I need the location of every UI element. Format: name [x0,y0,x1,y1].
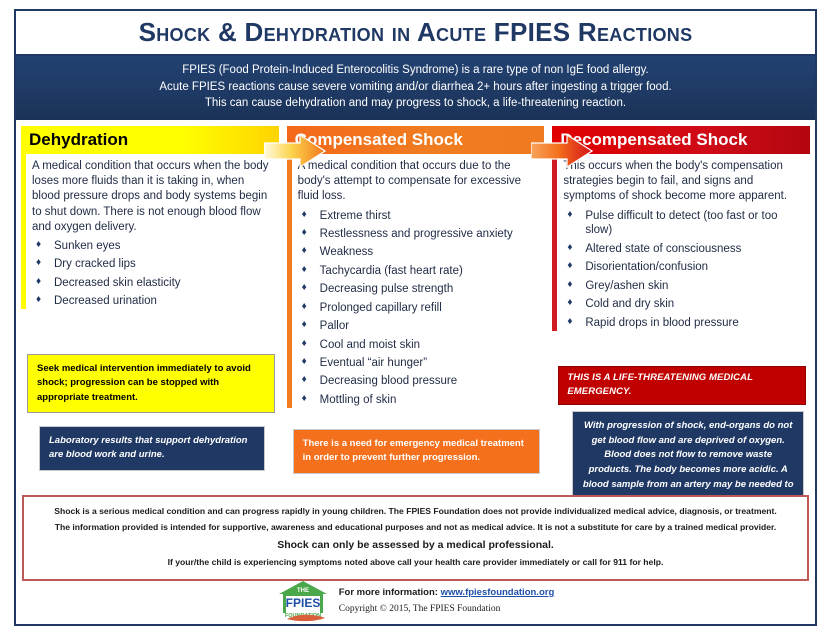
disclaimer-line-2: The information provided is intended for… [34,520,797,536]
symptom-list-dehydration: Sunken eyes Dry cracked lips Decreased s… [32,239,275,309]
columns-container: Dehydration A medical condition that occ… [16,120,815,487]
column-description: A medical condition that occurs when the… [32,159,275,235]
callout-seek-medical-intervention: Seek medical intervention immediately to… [27,354,275,413]
more-info-line: For more information: www.fpiesfoundatio… [339,585,555,601]
intro-banner: FPIES (Food Protein-Induced Enterocoliti… [16,56,815,120]
list-item: Weakness [298,245,541,260]
list-item: Decreased urination [32,294,275,309]
list-item: Decreasing pulse strength [298,282,541,297]
list-item: Dry cracked lips [32,257,275,272]
list-item: Prolonged capillary refill [298,301,541,316]
arrow-dehydration-to-compensated-icon [264,134,326,168]
column-dehydration: Dehydration A medical condition that occ… [21,126,279,487]
disclaimer-line-4: If your/the child is experiencing sympto… [34,555,797,571]
list-item: Rapid drops in blood pressure [563,316,806,331]
disclaimer-line-3: Shock can only be assessed by a medical … [34,536,797,555]
list-item: Decreasing blood pressure [298,374,541,389]
list-item: Extreme thirst [298,209,541,224]
infographic-poster: Shock & Dehydration in Acute FPIES React… [14,9,817,626]
disclaimer-line-1: Shock is a serious medical condition and… [34,504,797,520]
list-item: Restlessness and progressive anxiety [298,227,541,242]
more-info-label: For more information: [339,587,438,598]
arrow-compensated-to-decompensated-icon [531,134,593,168]
callout-emergency-treatment: There is a need for emergency medical tr… [293,429,541,474]
column-body-dehydration: A medical condition that occurs when the… [21,154,279,309]
callout-laboratory-results: Laboratory results that support dehydrat… [39,426,265,471]
list-item: Tachycardia (fast heart rate) [298,264,541,279]
intro-line-2: Acute FPIES reactions cause severe vomit… [26,79,805,96]
list-item: Cold and dry skin [563,297,806,312]
page-title: Shock & Dehydration in Acute FPIES React… [139,17,693,48]
copyright-line: Copyright © 2015, The FPIES Foundation [339,601,555,617]
symptom-list-compensated-shock: Extreme thirst Restlessness and progress… [298,209,541,408]
list-item: Sunken eyes [32,239,275,254]
title-bar: Shock & Dehydration in Acute FPIES React… [16,11,815,56]
column-body-decompensated-shock: This occurs when the body's compensation… [552,154,810,331]
intro-line-1: FPIES (Food Protein-Induced Enterocoliti… [26,62,805,79]
symptom-list-decompensated-shock: Pulse difficult to detect (too fast or t… [563,209,806,331]
svg-text:FPIES: FPIES [285,596,320,610]
list-item: Cool and moist skin [298,338,541,353]
list-item: Pulse difficult to detect (too fast or t… [563,209,806,239]
list-item: Pallor [298,319,541,334]
disclaimer-box: Shock is a serious medical condition and… [22,495,809,581]
list-item: Eventual “air hunger” [298,356,541,371]
list-item: Disorientation/confusion [563,260,806,275]
list-item: Decreased skin elasticity [32,276,275,291]
fpies-website-link[interactable]: www.fpiesfoundation.org [441,587,555,598]
fpies-foundation-logo-icon: THE FPIES FOUNDATION [277,579,329,623]
footer-text: For more information: www.fpiesfoundatio… [339,585,555,617]
column-body-compensated-shock: A medical condition that occurs due to t… [287,154,545,408]
intro-line-3: This can cause dehydration and may progr… [26,95,805,112]
list-item: Mottling of skin [298,393,541,408]
svg-text:THE: THE [297,588,309,594]
footer: THE FPIES FOUNDATION For more informatio… [16,576,815,626]
column-compensated-shock: Compensated Shock A medical condition th… [287,126,545,487]
column-description: This occurs when the body's compensation… [563,159,806,205]
column-description: A medical condition that occurs due to t… [298,159,541,205]
callout-life-threatening-emergency: THIS IS A LIFE-THREATENING MEDICAL EMERG… [558,366,806,405]
column-heading-dehydration: Dehydration [21,126,279,154]
column-decompensated-shock: Decompensated Shock This occurs when the… [552,126,810,487]
list-item: Altered state of consciousness [563,242,806,257]
list-item: Grey/ashen skin [563,279,806,294]
